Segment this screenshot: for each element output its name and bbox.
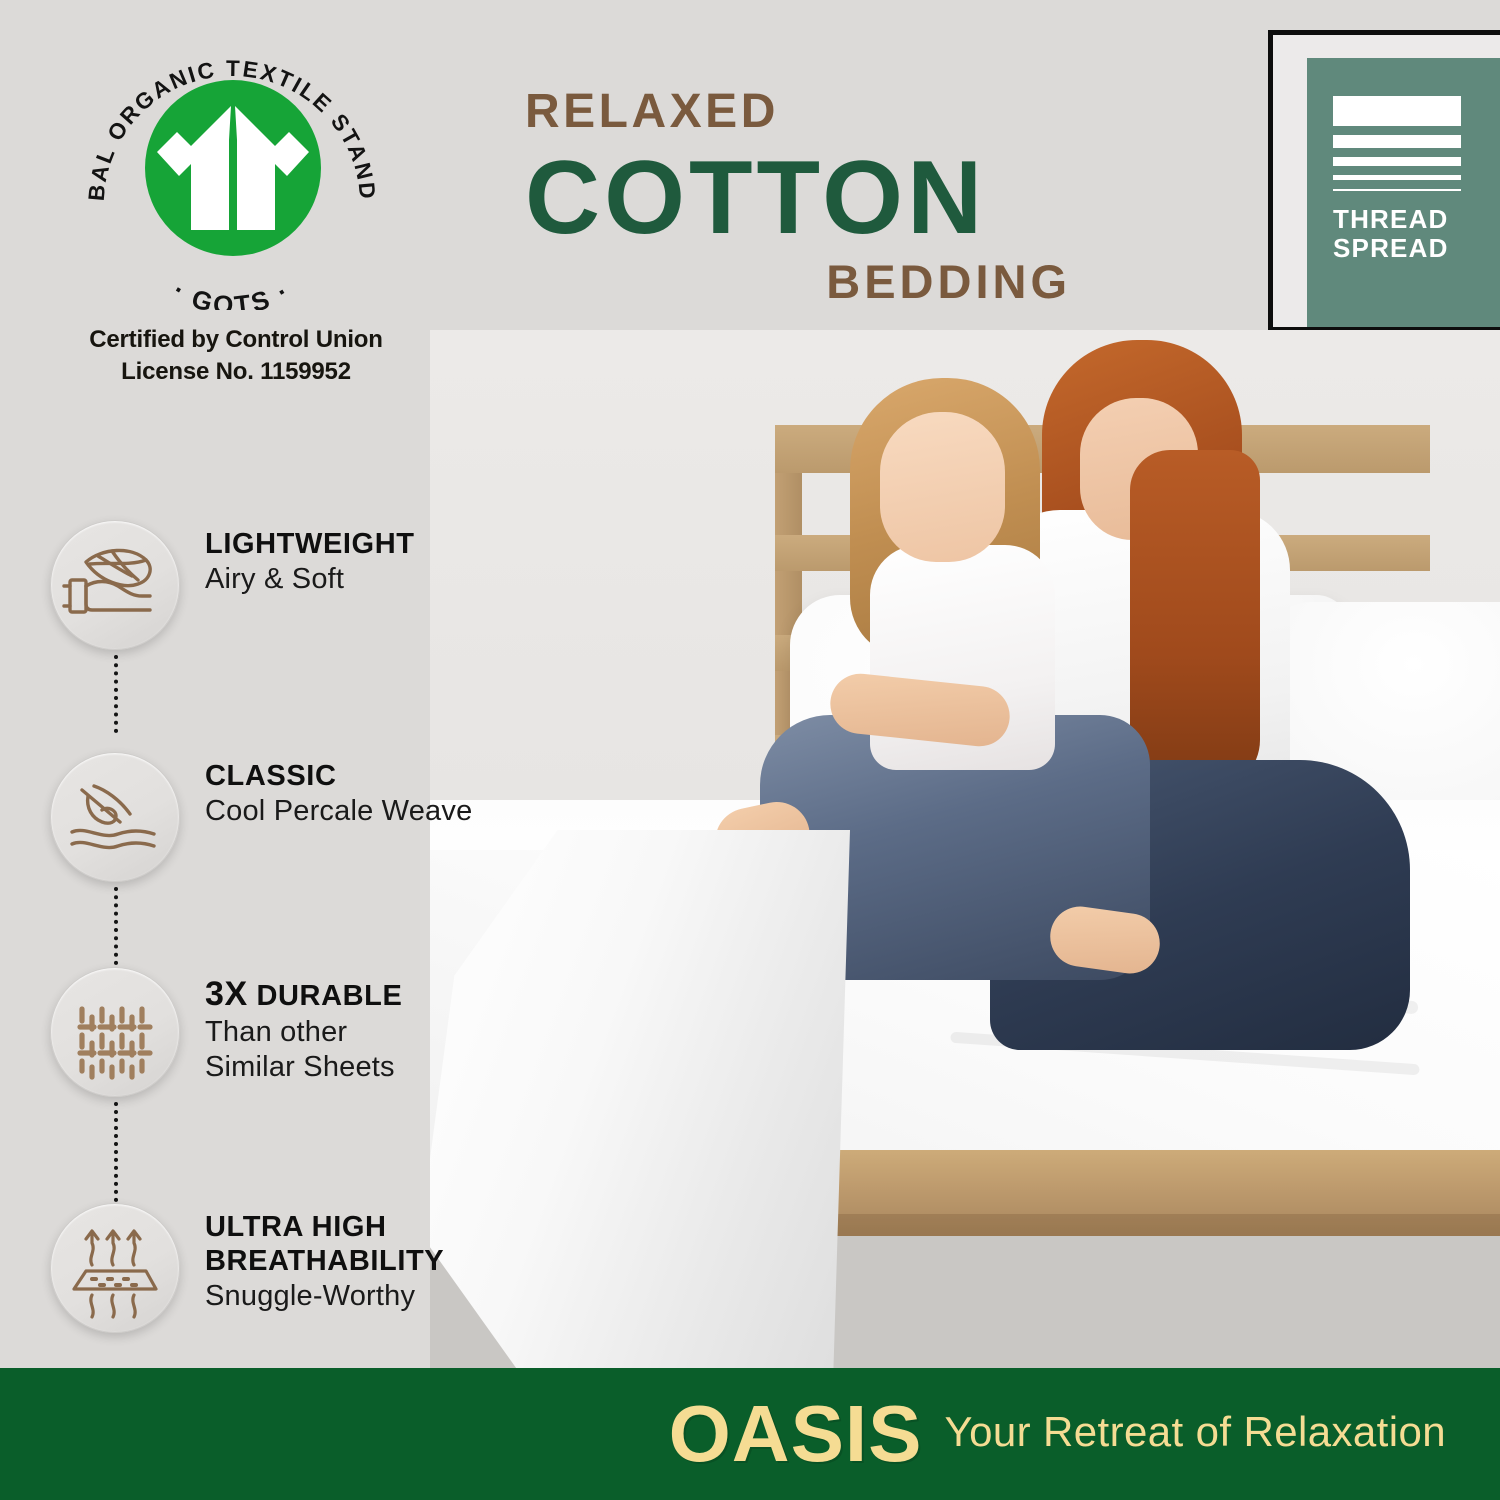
feature-title: CLASSIC [205, 760, 565, 794]
lifestyle-photo [430, 330, 1500, 1368]
framed-brand-poster: THREAD SPREAD [1268, 30, 1500, 332]
feature-text: 3X DURABLE Than other Similar Sheets [205, 975, 565, 1084]
gots-caption-line1: Certified by Control Union [76, 324, 396, 356]
logo-bar-5 [1333, 189, 1461, 191]
organic-shirt-icon [145, 80, 321, 256]
poster-mat: THREAD SPREAD [1273, 35, 1500, 327]
feature-text: LIGHTWEIGHT Airy & Soft [205, 528, 565, 597]
gots-caption: Certified by Control Union License No. 1… [76, 324, 396, 387]
feature-text: CLASSIC Cool Percale Weave [205, 760, 565, 829]
woman-hair-front [1130, 450, 1260, 790]
gots-certification-badge: GLOBAL ORGANIC TEXTILE STANDARD · GOTS ·… [82, 52, 382, 310]
logo-bar-4 [1333, 175, 1461, 180]
hand-with-feather-icon [50, 520, 180, 650]
svg-text:· GOTS ·: · GOTS · [168, 275, 296, 310]
banner-content: OASIS Your Retreat of Relaxation [669, 1368, 1446, 1500]
feature-title-2: BREATHABILITY [205, 1245, 565, 1279]
logo-bar-2 [1333, 135, 1461, 148]
brand-name-line2: SPREAD [1333, 234, 1500, 263]
logo-bar-1 [1333, 96, 1461, 126]
feature-sub1: Airy & Soft [205, 562, 565, 597]
bottom-brand-banner: OASIS Your Retreat of Relaxation [0, 1368, 1500, 1500]
feature-sub2: Similar Sheets [205, 1050, 565, 1085]
breathability-arrows-icon [50, 1203, 180, 1333]
feature-title: ULTRA HIGH [205, 1211, 565, 1245]
feature-title: LIGHTWEIGHT [205, 528, 565, 562]
logo-bar-3 [1333, 157, 1461, 166]
woven-fabric-icon [50, 967, 180, 1097]
feature-sub1: Cool Percale Weave [205, 794, 565, 829]
brand-logo-panel: THREAD SPREAD [1307, 58, 1500, 327]
brand-name-line1: THREAD [1333, 205, 1500, 234]
feature-title: 3X DURABLE [205, 975, 565, 1015]
feature-title-prefix: 3X [205, 975, 248, 1013]
banner-brand-name: OASIS [669, 1394, 923, 1474]
connector-dots-3 [114, 1102, 118, 1202]
feature-text: ULTRA HIGH BREATHABILITY Snuggle-Worthy [205, 1211, 565, 1314]
hand-on-fabric-icon [50, 752, 180, 882]
feature-title-main: DURABLE [256, 980, 402, 1012]
feature-sub1: Than other [205, 1015, 565, 1050]
headline-main: COTTON [525, 140, 1085, 256]
feature-sub1: Snuggle-Worthy [205, 1279, 565, 1314]
headline-eyebrow: RELAXED [525, 88, 1085, 136]
connector-dots-2 [114, 887, 118, 965]
infographic-canvas: GLOBAL ORGANIC TEXTILE STANDARD · GOTS ·… [0, 0, 1500, 1500]
gots-caption-line2: License No. 1159952 [76, 356, 396, 388]
banner-tagline: Your Retreat of Relaxation [945, 1411, 1446, 1457]
connector-dots-1 [114, 655, 118, 733]
headline-sub: BEDDING [525, 258, 1085, 305]
headline-block: RELAXED COTTON BEDDING [525, 88, 1085, 305]
child-face [880, 412, 1005, 562]
